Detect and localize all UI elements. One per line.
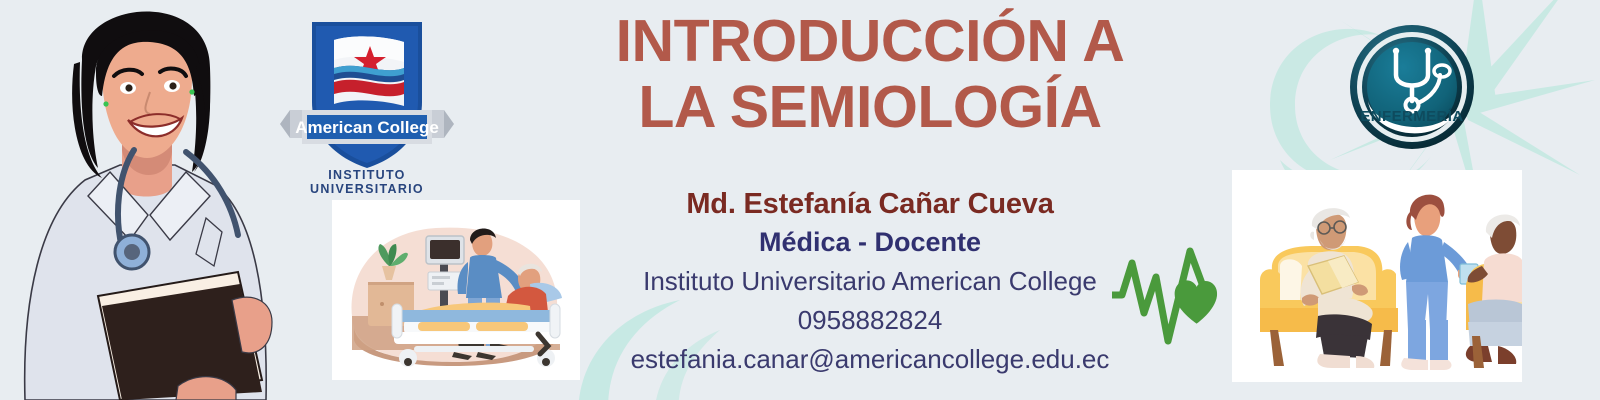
enfermeria-badge: ENFERMERÍA bbox=[1348, 23, 1476, 151]
presenter-email: estefania.canar@americancollege.edu.ec bbox=[520, 340, 1220, 379]
elderly-care-illustration-card bbox=[1232, 170, 1522, 382]
badge-label: ENFERMERÍA bbox=[1360, 108, 1463, 125]
title-line-1: INTRODUCCIÓN A bbox=[520, 8, 1220, 74]
elderly-care-scene bbox=[1232, 170, 1522, 382]
title-line-2: LA SEMIOLOGÍA bbox=[520, 74, 1220, 140]
title-block: INTRODUCCIÓN A LA SEMIOLOGÍA bbox=[520, 8, 1220, 140]
logo-banner-text: American College bbox=[295, 118, 439, 137]
ecg-heartbeat-icon bbox=[1112, 233, 1242, 345]
presenter-name: Md. Estefanía Cañar Cueva bbox=[520, 186, 1220, 222]
doctor-illustration bbox=[10, 0, 275, 400]
hospital-scene bbox=[332, 200, 580, 380]
course-banner: American College INSTITUTO UNIVERSITARIO… bbox=[0, 0, 1600, 400]
hospital-illustration-card bbox=[332, 200, 580, 380]
logo-caption: INSTITUTO UNIVERSITARIO bbox=[272, 168, 462, 196]
american-college-logo: American College bbox=[272, 14, 462, 189]
